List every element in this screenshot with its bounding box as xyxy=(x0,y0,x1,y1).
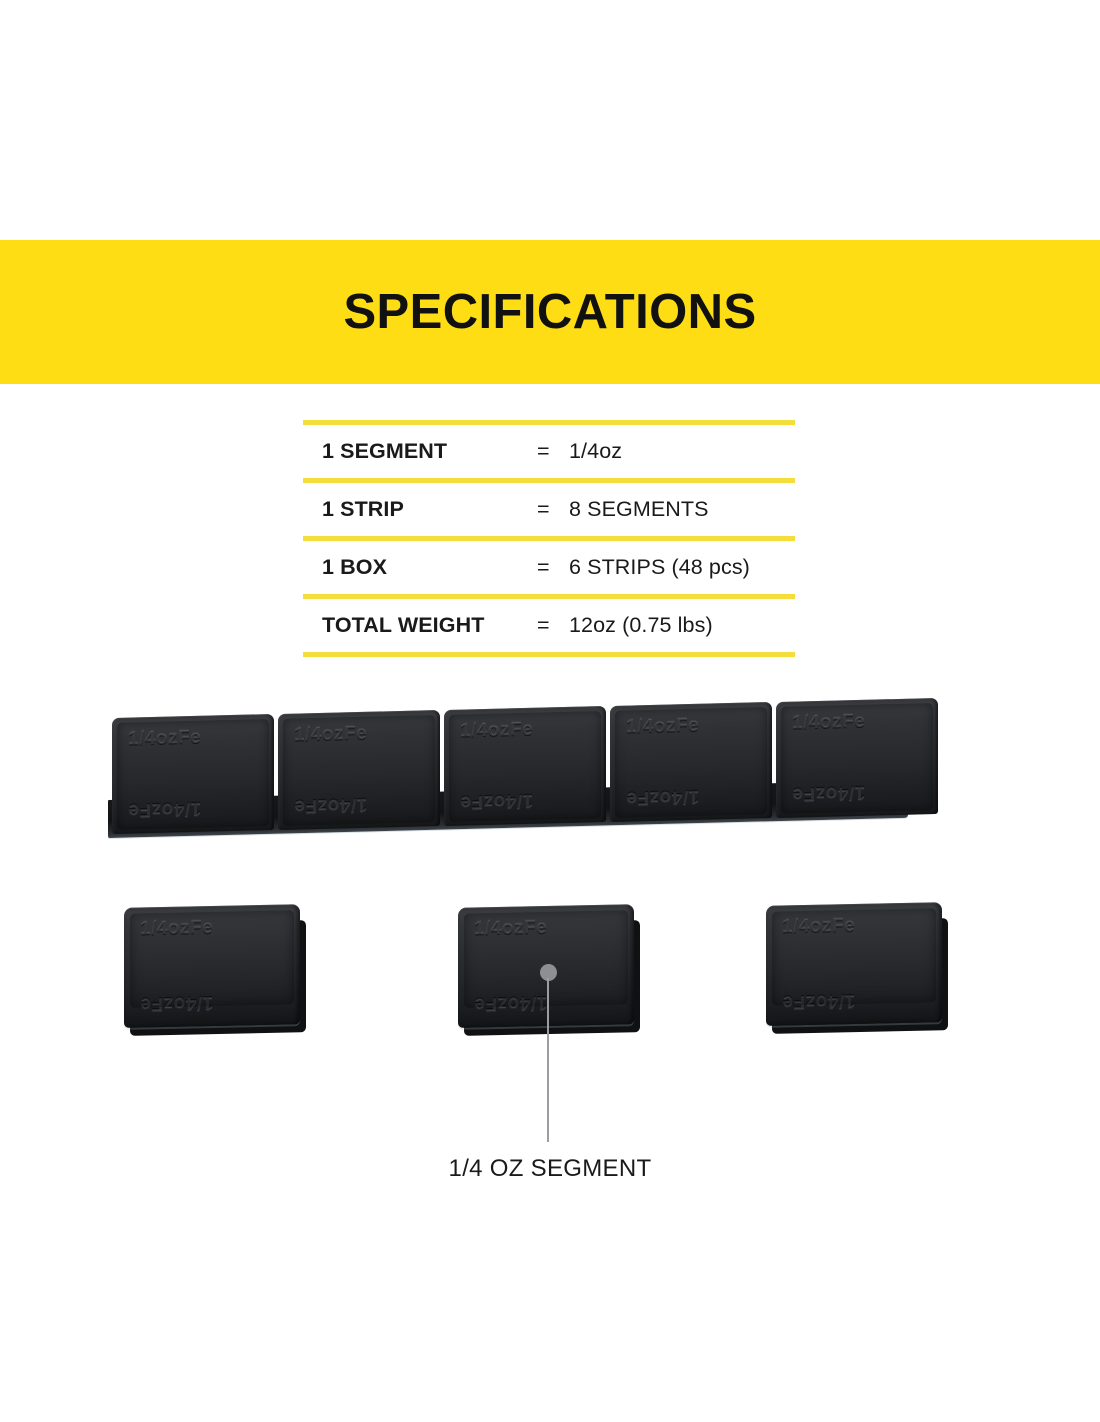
segment-emboss-bottom: 1/4ozFe xyxy=(460,789,533,813)
loose-segment: 1/4ozFe 1/4ozFe xyxy=(766,898,948,1026)
strip-segment: 1/4ozFe 1/4ozFe xyxy=(112,714,274,834)
spec-equals-sign: = xyxy=(537,497,569,522)
segment-emboss-top: 1/4ozFe xyxy=(792,711,865,735)
specifications-table: 1 SEGMENT = 1/4oz 1 STRIP = 8 SEGMENTS 1… xyxy=(303,420,795,657)
spec-label: 1 STRIP xyxy=(322,497,537,522)
spec-label: TOTAL WEIGHT xyxy=(322,613,537,638)
spec-equals-sign: = xyxy=(537,613,569,638)
spec-value: 12oz (0.75 lbs) xyxy=(569,613,713,638)
segment-emboss-bottom: 1/4ozFe xyxy=(792,781,865,805)
specifications-banner: SPECIFICATIONS xyxy=(0,240,1100,384)
loose-segment: 1/4ozFe 1/4ozFe xyxy=(124,900,306,1028)
weight-strip: 1/4ozFe 1/4ozFe 1/4ozFe 1/4ozFe 1/4ozFe … xyxy=(108,702,908,850)
table-divider-bottom xyxy=(303,652,795,657)
spec-equals-sign: = xyxy=(537,439,569,464)
segment-emboss-bottom: 1/4ozFe xyxy=(294,793,367,817)
segment-emboss-top: 1/4ozFe xyxy=(140,917,213,941)
segment-emboss-bottom: 1/4ozFe xyxy=(140,991,213,1015)
table-row: TOTAL WEIGHT = 12oz (0.75 lbs) xyxy=(303,599,795,652)
spec-label: 1 BOX xyxy=(322,555,537,580)
strip-segment: 1/4ozFe 1/4ozFe xyxy=(278,710,440,830)
segment-emboss-top: 1/4ozFe xyxy=(294,723,367,747)
segment-emboss-top: 1/4ozFe xyxy=(474,917,547,941)
segment-emboss-top: 1/4ozFe xyxy=(782,915,855,939)
segment-emboss-bottom: 1/4ozFe xyxy=(474,991,547,1015)
callout-caption: 1/4 OZ SEGMENT xyxy=(0,1155,1100,1183)
spec-value: 6 STRIPS (48 pcs) xyxy=(569,555,750,580)
callout-leader-line xyxy=(547,978,549,1142)
specifications-page: SPECIFICATIONS 1 SEGMENT = 1/4oz 1 STRIP… xyxy=(0,0,1100,1422)
segment-emboss-bottom: 1/4ozFe xyxy=(128,797,201,821)
product-photo-area: 1/4ozFe 1/4ozFe 1/4ozFe 1/4ozFe 1/4ozFe … xyxy=(0,660,1100,1220)
spec-equals-sign: = xyxy=(537,555,569,580)
strip-segment: 1/4ozFe 1/4ozFe xyxy=(444,706,606,826)
table-row: 1 SEGMENT = 1/4oz xyxy=(303,425,795,478)
strip-segment: 1/4ozFe 1/4ozFe xyxy=(610,702,772,822)
segment-emboss-bottom: 1/4ozFe xyxy=(626,785,699,809)
segment-body: 1/4ozFe 1/4ozFe xyxy=(124,904,300,1028)
spec-label: 1 SEGMENT xyxy=(322,439,537,464)
table-row: 1 STRIP = 8 SEGMENTS xyxy=(303,483,795,536)
segment-emboss-bottom: 1/4ozFe xyxy=(782,989,855,1013)
spec-value: 1/4oz xyxy=(569,439,622,464)
page-title: SPECIFICATIONS xyxy=(343,288,756,337)
segment-emboss-top: 1/4ozFe xyxy=(626,715,699,739)
spec-value: 8 SEGMENTS xyxy=(569,497,709,522)
strip-segment: 1/4ozFe 1/4ozFe xyxy=(776,698,938,818)
segment-emboss-top: 1/4ozFe xyxy=(460,719,533,743)
segment-emboss-top: 1/4ozFe xyxy=(128,727,201,751)
table-row: 1 BOX = 6 STRIPS (48 pcs) xyxy=(303,541,795,594)
segment-body: 1/4ozFe 1/4ozFe xyxy=(766,902,942,1026)
